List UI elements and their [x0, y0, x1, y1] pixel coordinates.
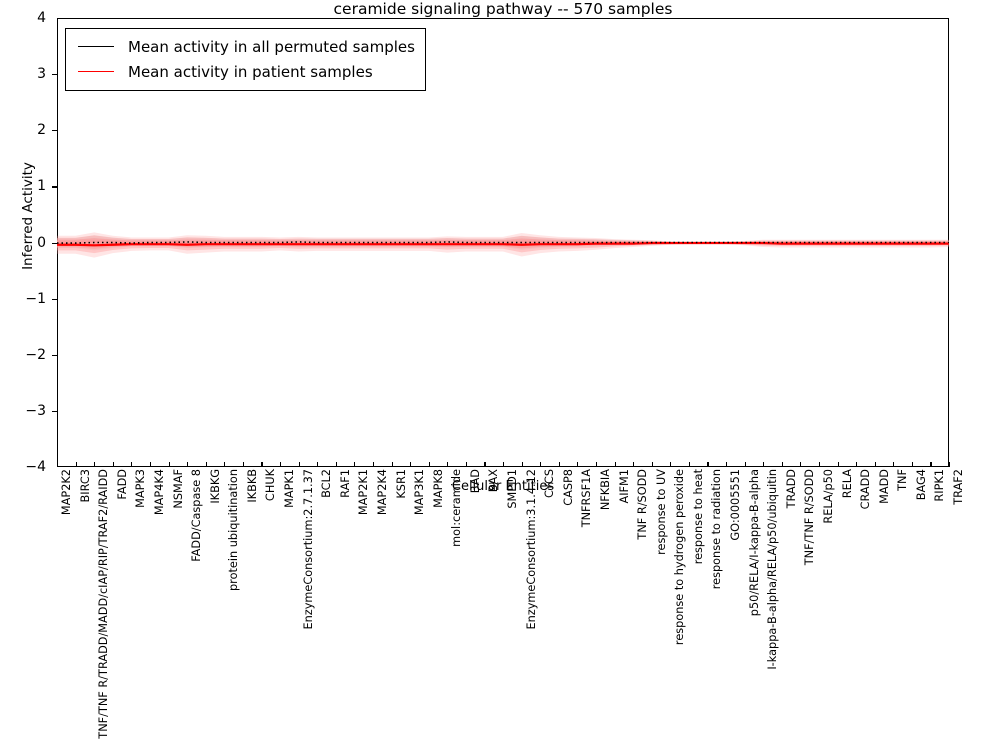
y-tick-label: −3: [6, 403, 46, 419]
x-tick-mark: [206, 462, 207, 467]
chart-legend: Mean activity in all permuted samples Me…: [65, 28, 426, 91]
legend-item-permuted: Mean activity in all permuted samples: [74, 34, 415, 59]
y-tick-label: 0: [6, 235, 46, 251]
x-tick-mark: [131, 462, 132, 467]
x-tick-label: I-kappa-B-alpha/RELA/p50/ubiquitin: [767, 469, 778, 672]
x-tick-label: TRAF2: [953, 469, 964, 507]
x-tick-mark: [912, 462, 913, 467]
x-tick-mark: [466, 462, 467, 467]
x-tick-mark: [838, 462, 839, 467]
x-tick-mark: [113, 462, 114, 467]
x-tick-mark: [261, 462, 262, 467]
chart-title: ceramide signaling pathway -- 570 sample…: [57, 0, 949, 18]
x-tick-mark: [930, 462, 931, 467]
x-tick-mark: [484, 462, 485, 467]
x-tick-mark: [169, 462, 170, 467]
x-tick-mark: [559, 462, 560, 467]
x-tick-mark: [410, 462, 411, 467]
x-tick-mark: [94, 462, 95, 467]
legend-label-patient: Mean activity in patient samples: [128, 63, 373, 81]
x-tick-mark: [893, 462, 894, 467]
x-tick-label: TNF/TNF R/TRADD/MADD/cIAP/RIP/TRAF2/RAID…: [98, 469, 109, 741]
x-tick-mark: [317, 462, 318, 467]
x-tick-label: response to hydrogen peroxide: [674, 469, 685, 647]
x-tick-mark: [819, 462, 820, 467]
x-tick-mark: [299, 462, 300, 467]
x-tick-mark: [57, 462, 58, 467]
x-tick-mark: [150, 462, 151, 467]
x-tick-mark: [354, 462, 355, 467]
y-tick-label: 4: [6, 10, 46, 26]
x-tick-mark: [596, 462, 597, 467]
x-tick-mark: [503, 462, 504, 467]
x-tick-mark: [243, 462, 244, 467]
x-tick-mark: [670, 462, 671, 467]
x-tick-mark: [76, 462, 77, 467]
x-tick-mark: [447, 462, 448, 467]
legend-swatch-permuted: [78, 46, 114, 47]
x-tick-mark: [540, 462, 541, 467]
x-tick-mark: [187, 462, 188, 467]
x-tick-label: RELA/p50: [823, 469, 834, 526]
legend-swatch-patient: [78, 71, 114, 72]
x-tick-mark: [373, 462, 374, 467]
x-tick-mark: [392, 462, 393, 467]
x-tick-mark: [782, 462, 783, 467]
x-tick-mark: [875, 462, 876, 467]
x-tick-mark: [763, 462, 764, 467]
legend-item-patient: Mean activity in patient samples: [74, 59, 415, 84]
x-tick-mark: [336, 462, 337, 467]
y-tick-label: −1: [6, 291, 46, 307]
x-tick-mark: [707, 462, 708, 467]
figure-canvas: ceramide signaling pathway -- 570 sample…: [0, 0, 1000, 500]
y-tick-label: 1: [6, 178, 46, 194]
x-tick-mark: [224, 462, 225, 467]
x-tick-mark: [652, 462, 653, 467]
x-tick-mark: [429, 462, 430, 467]
y-tick-label: −2: [6, 347, 46, 363]
x-tick-mark: [856, 462, 857, 467]
x-tick-mark: [726, 462, 727, 467]
x-axis-label: Cellular Entities: [57, 479, 949, 494]
x-tick-mark: [280, 462, 281, 467]
x-tick-mark: [949, 462, 950, 467]
y-tick-label: −4: [6, 459, 46, 475]
x-tick-mark: [800, 462, 801, 467]
x-tick-mark: [615, 462, 616, 467]
y-tick-label: 2: [6, 122, 46, 138]
x-tick-mark: [522, 462, 523, 467]
x-tick-mark: [745, 462, 746, 467]
x-tick-mark: [689, 462, 690, 467]
x-tick-mark: [577, 462, 578, 467]
x-tick-mark: [633, 462, 634, 467]
legend-label-permuted: Mean activity in all permuted samples: [128, 38, 415, 56]
y-tick-label: 3: [6, 66, 46, 82]
